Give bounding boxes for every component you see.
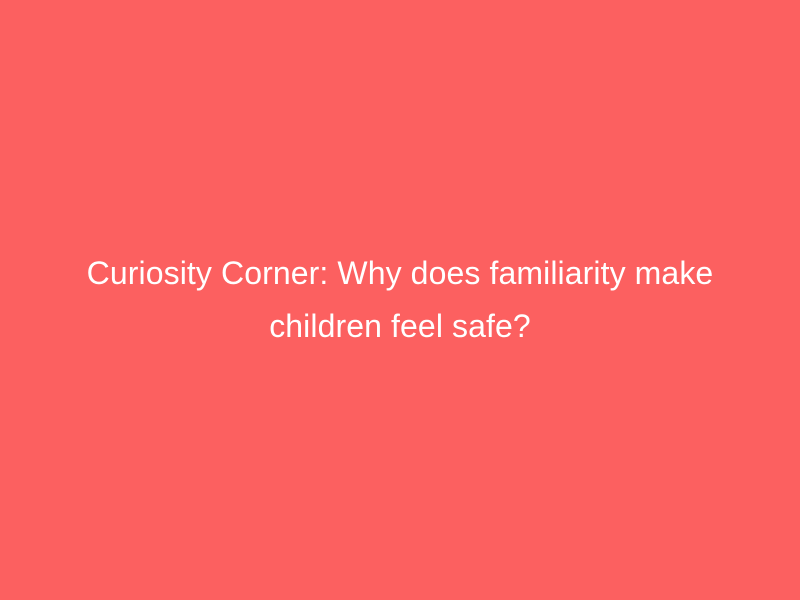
quote-card: Curiosity Corner: Why does familiarity m… [0,0,800,600]
headline-block: Curiosity Corner: Why does familiarity m… [60,247,740,353]
page-title: Curiosity Corner: Why does familiarity m… [70,247,730,353]
